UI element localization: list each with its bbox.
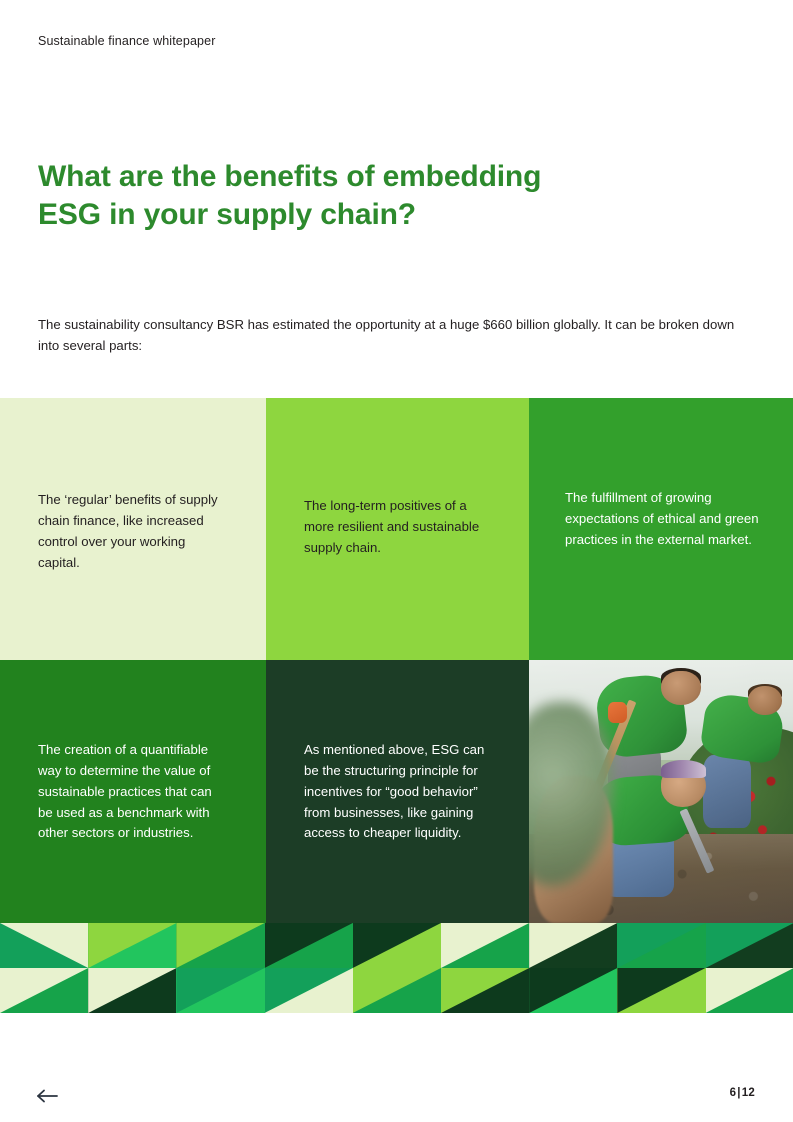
- pattern-tile: [88, 968, 176, 1013]
- pattern-tile: [617, 968, 705, 1013]
- pattern-tile: [176, 923, 264, 968]
- pattern-triangle: [529, 968, 617, 1013]
- benefit-cell-quantifiable-benchmark: The creation of a quantifiable way to de…: [0, 660, 266, 923]
- benefit-cell-long-term-positives: The long-term positives of a more resili…: [266, 398, 529, 660]
- pattern-triangle: [265, 923, 353, 968]
- pattern-tile: [0, 968, 88, 1013]
- pattern-triangle: [706, 923, 793, 968]
- photo-grain-overlay: [529, 660, 793, 923]
- document-page: Sustainable finance whitepaper What are …: [0, 0, 793, 1122]
- benefits-grid: The ‘regular’ benefits of supply chain f…: [0, 398, 793, 923]
- pattern-triangle: [88, 968, 176, 1013]
- pattern-tile: [353, 968, 441, 1013]
- benefit-text: The ‘regular’ benefits of supply chain f…: [38, 490, 223, 573]
- decorative-triangle-band: [0, 923, 793, 1013]
- pattern-tile: [706, 923, 793, 968]
- pattern-triangle: [706, 968, 793, 1013]
- pattern-triangle: [176, 923, 264, 968]
- pattern-tile: [265, 968, 353, 1013]
- benefit-cell-structuring-principle: As mentioned above, ESG can be the struc…: [266, 660, 529, 923]
- pattern-triangle: [353, 968, 441, 1013]
- pattern-triangle: [441, 923, 529, 968]
- pattern-triangle: [0, 923, 88, 968]
- pattern-tile: [88, 923, 176, 968]
- intro-paragraph: The sustainability consultancy BSR has e…: [38, 315, 750, 356]
- pattern-tile: [617, 923, 705, 968]
- benefit-text: As mentioned above, ESG can be the struc…: [304, 740, 489, 844]
- benefit-text: The long-term positives of a more resili…: [304, 496, 489, 559]
- pattern-tile: [353, 923, 441, 968]
- volunteers-garden-photo: [529, 660, 793, 923]
- page-title-line-1: What are the benefits of embedding: [38, 158, 658, 196]
- pattern-tile: [529, 923, 617, 968]
- pattern-tile: [529, 968, 617, 1013]
- pattern-tile: [176, 968, 264, 1013]
- pattern-triangle: [353, 923, 441, 968]
- pattern-tile: [441, 923, 529, 968]
- page-title: What are the benefits of embedding ESG i…: [38, 158, 658, 233]
- pattern-triangle: [529, 923, 617, 968]
- benefit-text: The fulfillment of growing expectations …: [565, 488, 760, 551]
- pattern-tile: [706, 968, 793, 1013]
- arrow-left-icon: [36, 1088, 60, 1104]
- page-title-line-2: ESG in your supply chain?: [38, 196, 658, 234]
- pattern-tile: [265, 923, 353, 968]
- pattern-triangle: [617, 923, 705, 968]
- pattern-triangle: [88, 923, 176, 968]
- pattern-triangle: [176, 968, 264, 1013]
- benefit-text: The creation of a quantifiable way to de…: [38, 740, 223, 844]
- back-button[interactable]: [36, 1086, 62, 1106]
- pattern-triangle: [441, 968, 529, 1013]
- pattern-triangle: [265, 968, 353, 1013]
- pattern-tile: [441, 968, 529, 1013]
- page-number: 6|12: [730, 1087, 755, 1099]
- pattern-tile: [0, 923, 88, 968]
- benefit-cell-fulfillment-expectations: The fulfillment of growing expectations …: [529, 398, 793, 660]
- page-number-current: 6: [730, 1087, 737, 1099]
- pattern-triangle: [617, 968, 705, 1013]
- page-number-total: 12: [742, 1087, 755, 1099]
- running-header: Sustainable finance whitepaper: [38, 33, 215, 49]
- pattern-triangle: [0, 968, 88, 1013]
- page-number-separator: |: [737, 1087, 740, 1099]
- benefit-cell-volunteers-photo: [529, 660, 793, 923]
- benefit-cell-regular-benefits: The ‘regular’ benefits of supply chain f…: [0, 398, 266, 660]
